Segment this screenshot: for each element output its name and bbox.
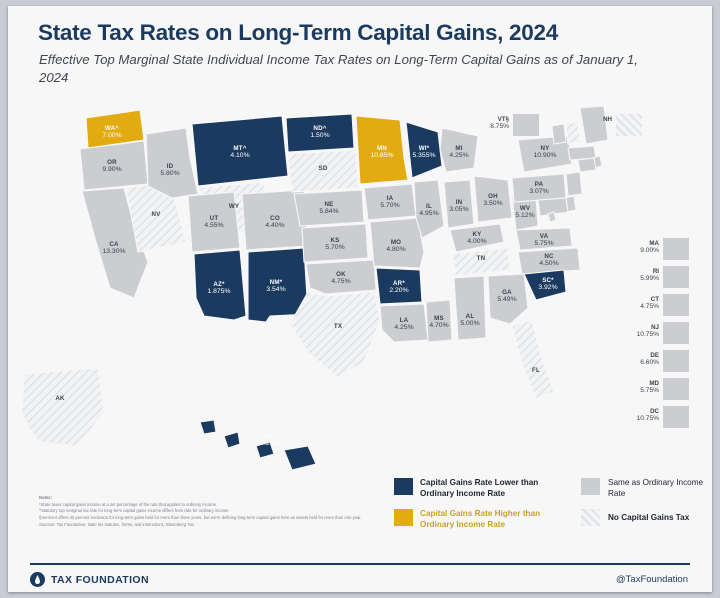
brand-name: TAX FOUNDATION (51, 574, 149, 586)
state-shape-ga[interactable] (488, 274, 528, 324)
state-shape-nc[interactable] (518, 248, 580, 274)
state-box-label: VT§8.75% (490, 116, 509, 131)
legend: Capital Gains Rate Lower than Ordinary I… (394, 476, 694, 534)
note-sources: Sources: Tax Foundation; state tax statu… (39, 522, 369, 529)
state-shape-ms[interactable] (426, 300, 452, 342)
note-line-1: *State taxes capital gains income at a s… (39, 502, 369, 509)
footer-divider (30, 563, 690, 565)
state-box-label: CT4.75% (640, 296, 659, 311)
state-shape-la[interactable] (380, 304, 428, 342)
state-shape-or[interactable] (80, 141, 148, 190)
state-shape-ar[interactable] (376, 268, 422, 304)
state-shape-in[interactable] (444, 180, 474, 228)
page-title: State Tax Rates on Long-Term Capital Gai… (38, 20, 698, 46)
state-swatch (663, 350, 689, 372)
state-shape-ky[interactable] (450, 224, 504, 252)
state-rate: 10.75% (637, 415, 659, 423)
state-box-label: DE6.60% (640, 352, 659, 367)
state-shape-wi[interactable] (406, 122, 442, 178)
state-shape-mn[interactable] (356, 116, 408, 184)
state-swatch (663, 322, 689, 344)
state-shape-ak[interactable] (22, 368, 104, 446)
state-shape-nh[interactable] (566, 122, 580, 144)
state-shape-hi[interactable] (284, 446, 316, 470)
state-rate: 9.00% (640, 247, 659, 255)
state-box-label: MD5.75% (640, 380, 659, 395)
state-shape-hi[interactable] (200, 420, 216, 434)
legend-label-lower: Capital Gains Rate Lower than Ordinary I… (420, 477, 568, 499)
state-code: VT§ (490, 116, 509, 123)
state-shape-fl[interactable] (512, 320, 554, 398)
state-shape-ok[interactable] (306, 260, 376, 294)
legend-label-same: Same as Ordinary Income Rate (608, 477, 708, 499)
state-code: DC (637, 408, 659, 415)
state-shape-az[interactable] (194, 250, 246, 320)
state-rate: 8.75% (490, 123, 509, 131)
legend-swatch-higher (394, 509, 413, 526)
state-shape-nj[interactable] (566, 172, 582, 196)
note-line-3: §Vermont offers 40 percent exclusion for… (39, 515, 369, 522)
social-handle[interactable]: @TaxFoundation (616, 574, 688, 585)
state-code: MD (640, 380, 659, 387)
state-box-label: RI5.99% (640, 268, 659, 283)
state-code: MA (640, 240, 659, 247)
legend-swatch-same (581, 478, 600, 495)
state-shape-ne[interactable] (294, 190, 364, 226)
state-shape-nd[interactable] (286, 114, 354, 152)
notes-heading: Notes: (39, 495, 369, 502)
legend-label-higher: Capital Gains Rate Higher than Ordinary … (420, 508, 568, 530)
state-shape-mo[interactable] (370, 218, 424, 268)
state-shape-mi[interactable] (440, 128, 478, 172)
state-shape-tx[interactable] (290, 292, 380, 378)
state-shape-al[interactable] (454, 276, 486, 340)
state-rate: 5.75% (640, 387, 659, 395)
state-shape-sc[interactable] (524, 270, 566, 300)
state-shape-hi[interactable] (256, 442, 274, 458)
state-swatch (663, 378, 689, 400)
state-shape-va[interactable] (516, 228, 572, 250)
state-rate: 4.75% (640, 303, 659, 311)
state-code: NJ (637, 324, 659, 331)
state-shape-dc[interactable] (548, 212, 556, 222)
state-swatch (663, 294, 689, 316)
state-box-label: MA9.00% (640, 240, 659, 255)
state-code: DE (640, 352, 659, 359)
state-shape-hi[interactable] (224, 432, 240, 448)
state-box-label: NJ10.75% (637, 324, 659, 339)
state-shape-ia[interactable] (364, 184, 416, 220)
state-shape-vt[interactable] (552, 124, 566, 144)
note-line-2: ^Statutory top marginal tax rate for lon… (39, 508, 369, 515)
state-swatch (663, 406, 689, 428)
brand-logo: TAX FOUNDATION (30, 572, 149, 587)
us-choropleth-map (8, 102, 712, 472)
state-shape-sd[interactable] (288, 150, 358, 192)
state-shape-pa[interactable] (512, 174, 566, 202)
infographic-card: State Tax Rates on Long-Term Capital Gai… (8, 6, 712, 592)
state-shape-ks[interactable] (302, 224, 368, 262)
tax-foundation-logo-icon (30, 572, 45, 587)
state-shape-mt[interactable] (192, 116, 288, 186)
state-box-label: NH (603, 116, 612, 123)
state-box-label: DC10.75% (637, 408, 659, 423)
state-shape-tn[interactable] (452, 248, 510, 276)
state-shape-ct[interactable] (578, 158, 596, 172)
state-shape-me[interactable] (580, 106, 608, 144)
legend-label-none: No Capital Gains Tax (608, 512, 718, 523)
page-subtitle: Effective Top Marginal State Individual … (39, 51, 659, 86)
state-shape-oh[interactable] (474, 176, 512, 222)
state-rate: 6.60% (640, 359, 659, 367)
state-code: RI (640, 268, 659, 275)
state-code: NH (603, 116, 612, 123)
state-shape-id[interactable] (146, 128, 198, 198)
state-rate: 5.99% (640, 275, 659, 283)
state-shape-ut[interactable] (188, 192, 240, 252)
state-swatch (616, 114, 642, 136)
notes-block: Notes: *State taxes capital gains income… (39, 495, 369, 528)
state-swatch (663, 266, 689, 288)
state-rate: 10.75% (637, 331, 659, 339)
state-swatch (663, 238, 689, 260)
legend-swatch-none (581, 509, 600, 526)
state-swatch (513, 114, 539, 136)
state-code: CT (640, 296, 659, 303)
legend-swatch-lower (394, 478, 413, 495)
